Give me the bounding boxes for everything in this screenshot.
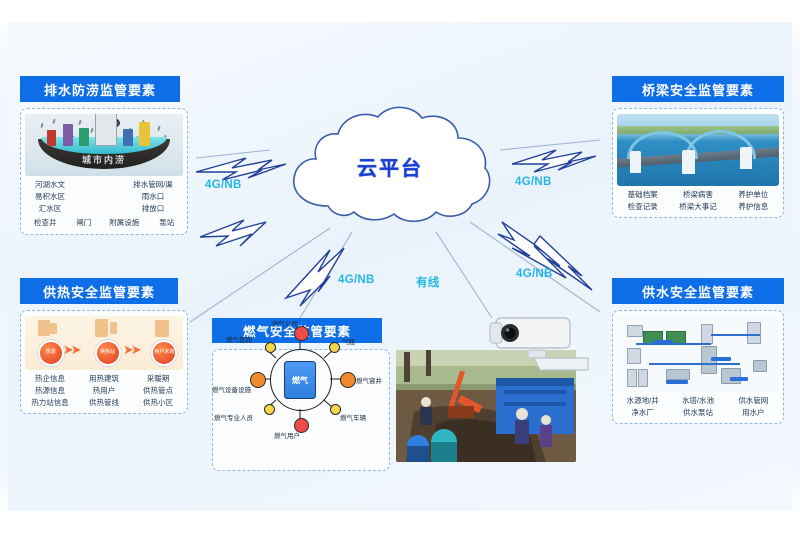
gas-node-label: 燃气设备设施	[212, 384, 251, 394]
panel-bridge[interactable]: 桥梁安全监管要素 基础档案 桥梁病害 养护单位 检查记录 桥梁大事记 养护信息	[612, 76, 784, 218]
gas-node-label: 燃气窨井	[356, 375, 382, 385]
lightning-bolt-drainage	[196, 158, 286, 180]
gas-node-dot	[340, 372, 356, 388]
tag: 附属设施	[102, 218, 147, 228]
tag	[79, 204, 119, 214]
gas-hub-diagram: 燃气 燃气公司 气瓶 燃气窨井 燃气车辆 燃气用户 燃气专业人员 燃气设备设施 …	[212, 318, 390, 440]
bridge-tag-grid: 基础档案 桥梁病害 养护单位 检查记录 桥梁大事记 养护信息	[617, 190, 779, 212]
cloud-platform: 云平台	[280, 102, 500, 230]
panel-watersupply-body: 水源地/井 水塔/水池 供水管网 净水厂 供水泵站 用水户	[612, 310, 784, 424]
tag: 用热建筑	[79, 374, 129, 384]
gas-node-label: 燃气专业人员	[214, 412, 253, 422]
line-cloud-watersupply	[470, 222, 600, 312]
tag: 热企信息	[25, 374, 75, 384]
tag: 供热小区	[133, 398, 183, 408]
tag: 水源地/井	[617, 396, 668, 406]
tag: 供热管线	[79, 398, 129, 408]
gas-node-dot	[294, 326, 309, 341]
watersupply-tag-grid: 水源地/井 水塔/水池 供水管网 净水厂 供水泵站 用水户	[617, 396, 779, 418]
heating-flow-node: 换热站	[95, 340, 121, 366]
drainage-tag-grid: 河湖水文 排水管网/渠 易积水区 雨水口 汇水区 排放口	[25, 180, 183, 214]
lightning-bolt-gas	[286, 248, 344, 306]
tag: 水塔/水池	[672, 396, 723, 406]
tag: 河湖水文	[25, 180, 75, 190]
field-monitoring-block	[396, 312, 594, 467]
heating-arrow-icon: ➤➤	[123, 342, 139, 358]
tag: 汇水区	[25, 204, 75, 214]
diagram-canvas: .bolt{fill:#ffffff;stroke:#21409a;stroke…	[0, 0, 800, 533]
panel-watersupply[interactable]: 供水安全监管要素	[612, 278, 784, 424]
panel-gas[interactable]: 燃气安全监管要素 燃气	[212, 318, 390, 471]
tag: 供热管点	[133, 386, 183, 396]
panel-gas-body: 燃气 燃气公司 气瓶 燃气窨井 燃气车辆 燃气用户 燃气专业人员 燃气设备设施 …	[212, 349, 390, 471]
heating-flow-node: 用户末端	[151, 340, 177, 366]
panel-drainage[interactable]: 排水防涝监管要素	[20, 76, 188, 235]
tag: 易积水区	[25, 192, 75, 202]
line-cloud-camera	[436, 232, 492, 318]
link-label-watersupply: 4G/NB	[516, 268, 553, 280]
tag: 雨水口	[123, 192, 183, 202]
tag: 热源信息	[25, 386, 75, 396]
panel-bridge-body: 基础档案 桥梁病害 养护单位 检查记录 桥梁大事记 养护信息	[612, 108, 784, 218]
tag: 桥梁大事记	[672, 202, 723, 212]
drainage-artwork-caption: 城市内涝	[25, 153, 183, 166]
gas-node-dot	[250, 372, 266, 388]
tag: 排水管网/渠	[123, 180, 183, 190]
lightning-bolt-drainage-2	[200, 220, 266, 246]
lightning-bolt-bridge	[512, 150, 596, 172]
panel-watersupply-title: 供水安全监管要素	[612, 278, 784, 304]
tag: 供水泵站	[672, 408, 723, 418]
drainage-tag-grid-bottom: 检查井 闸门 附属设施 泵站	[25, 218, 183, 228]
gas-node-label: 燃气用户	[274, 430, 300, 440]
lightning-bolt-watersupply-2	[534, 236, 592, 290]
gas-center-label: 燃气	[284, 361, 316, 399]
panel-drainage-title: 排水防涝监管要素	[20, 76, 180, 102]
tag: 闸门	[70, 218, 98, 228]
cloud-platform-label: 云平台	[280, 152, 500, 181]
heating-arrow-icon: ➤➤	[63, 342, 79, 358]
tag: 基础档案	[617, 190, 668, 200]
tag: 检查记录	[617, 202, 668, 212]
line-cloud-bridge	[500, 140, 600, 150]
panel-bridge-title: 桥梁安全监管要素	[612, 76, 784, 102]
link-label-gas: 4G/NB	[338, 274, 375, 286]
link-label-camera: 有线	[416, 274, 440, 290]
tag: 养护单位	[728, 190, 779, 200]
tag: 净水厂	[617, 408, 668, 418]
panel-drainage-body: 城市内涝 河湖水文 排水管网/渠 易积水区 雨水口 汇水区 排放口 检查井 闸门…	[20, 108, 188, 235]
panel-heating-title: 供热安全监管要素	[20, 278, 178, 304]
tag: 采暖期	[133, 374, 183, 384]
gas-node-label: 气瓶	[342, 336, 355, 346]
watersupply-illustration	[617, 316, 779, 392]
heating-flow-node: 热源	[38, 340, 64, 366]
line-cloud-heating	[190, 228, 330, 322]
tag	[79, 180, 119, 190]
gas-node-dot	[264, 404, 275, 415]
tag: 养护信息	[728, 202, 779, 212]
surveillance-camera-icon	[488, 312, 592, 374]
panel-heating-body: 热源 ➤➤ 换热站 ➤➤ 用户末端 热企信息 用热建筑 采暖期 热源信息 热用户…	[20, 310, 188, 414]
heating-illustration: 热源 ➤➤ 换热站 ➤➤ 用户末端	[25, 316, 183, 370]
tag: 检查井	[25, 218, 66, 228]
gas-node-label: 燃气车辆	[340, 412, 366, 422]
tag: 泵站	[151, 218, 183, 228]
gas-node-dot	[265, 342, 276, 353]
drainage-illustration: 城市内涝	[25, 114, 183, 176]
tag: 排放口	[123, 204, 183, 214]
tag: 热用户	[79, 386, 129, 396]
link-label-drainage: 4G/NB	[205, 179, 242, 191]
bridge-illustration	[617, 114, 779, 186]
tag	[79, 192, 119, 202]
line-cloud-drainage	[196, 150, 270, 158]
tag: 供水管网	[728, 396, 779, 406]
link-label-bridge: 4G/NB	[515, 176, 552, 188]
gas-node-dot	[329, 342, 340, 353]
panel-heating[interactable]: 供热安全监管要素 热源 ➤➤ 换热站 ➤➤ 用户末端 热企信息 用热建筑 采暖期…	[20, 278, 188, 414]
tag: 用水户	[728, 408, 779, 418]
tag: 热力站信息	[25, 398, 75, 408]
heating-tag-grid: 热企信息 用热建筑 采暖期 热源信息 热用户 供热管点 热力站信息 供热管线 供…	[25, 374, 183, 408]
tag: 桥梁病害	[672, 190, 723, 200]
gas-node-label: 燃气公司	[272, 318, 298, 328]
gas-node-label: 燃气管网	[226, 334, 252, 344]
